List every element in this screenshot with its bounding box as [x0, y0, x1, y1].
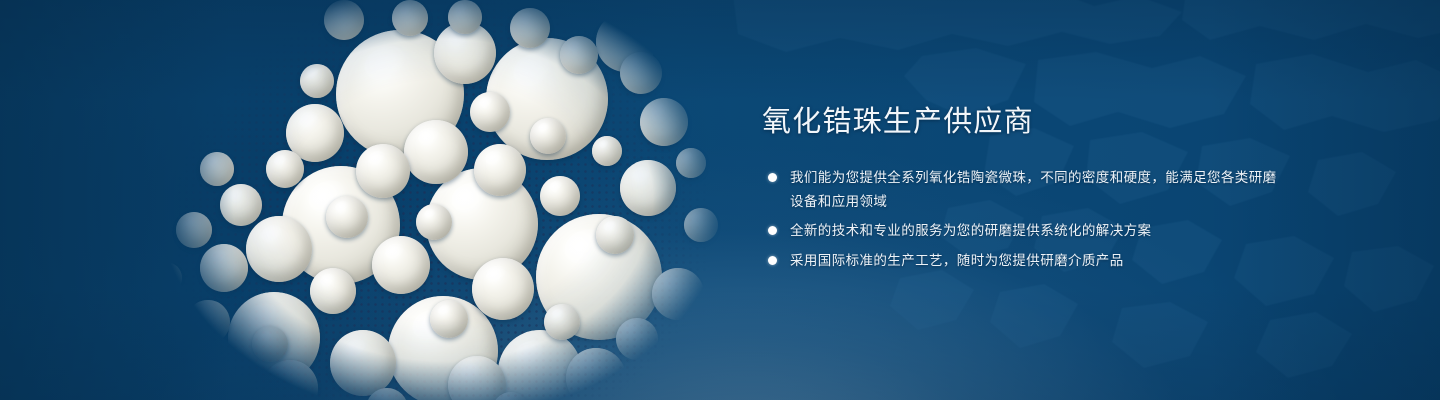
list-item-label: 我们能为您提供全系列氧化锆陶瓷微珠，不同的密度和硬度，能满足您各类研磨设备和应用… [790, 170, 1277, 209]
bead [668, 30, 704, 66]
zirconia-bead-cluster-image [0, 0, 820, 400]
bead [592, 136, 622, 166]
bead [372, 236, 430, 294]
bead [510, 8, 550, 48]
list-item-label: 采用国际标准的生产工艺，随时为您提供研磨介质产品 [790, 253, 1124, 268]
bead [530, 118, 566, 154]
bead [246, 216, 312, 282]
bead [392, 0, 428, 36]
feature-list: 我们能为您提供全系列氧化锆陶瓷微珠，不同的密度和硬度，能满足您各类研磨设备和应用… [762, 166, 1282, 272]
bead [560, 36, 598, 74]
bead [176, 212, 212, 248]
bead [616, 318, 658, 360]
bead [300, 64, 334, 98]
bead [448, 356, 506, 400]
bullet-dot-icon [768, 226, 777, 235]
bead [544, 304, 580, 340]
list-item: 采用国际标准的生产工艺，随时为您提供研磨介质产品 [762, 249, 1282, 273]
bead [356, 144, 410, 198]
bead [200, 152, 234, 186]
bead [652, 268, 704, 320]
bead [330, 330, 396, 396]
bead [596, 216, 634, 254]
bead [200, 244, 248, 292]
banner-copy: 氧化锆珠生产供应商 我们能为您提供全系列氧化锆陶瓷微珠，不同的密度和硬度，能满足… [762, 104, 1282, 272]
list-item-label: 全新的技术和专业的服务为您的研磨提供系统化的解决方案 [790, 223, 1151, 238]
bead [474, 144, 526, 196]
bead [472, 258, 534, 320]
bead [416, 204, 452, 240]
page-title: 氧化锆珠生产供应商 [762, 104, 1282, 140]
bead [540, 176, 580, 216]
bead [640, 98, 688, 146]
bead [404, 120, 468, 184]
bead [252, 326, 288, 362]
bead [220, 184, 262, 226]
bead [310, 268, 356, 314]
bead [266, 150, 304, 188]
bead [150, 262, 182, 294]
bead [676, 148, 706, 178]
bead [448, 0, 482, 34]
bead [430, 300, 468, 338]
list-item: 全新的技术和专业的服务为您的研磨提供系统化的解决方案 [762, 219, 1282, 243]
bead [186, 300, 230, 344]
bead [620, 52, 662, 94]
bead [196, 352, 240, 396]
bead [470, 92, 510, 132]
bead [684, 208, 718, 242]
bead [566, 348, 626, 400]
list-item: 我们能为您提供全系列氧化锆陶瓷微珠，不同的密度和硬度，能满足您各类研磨设备和应用… [762, 166, 1282, 213]
bead [620, 160, 676, 216]
hero-banner: 氧化锆珠生产供应商 我们能为您提供全系列氧化锆陶瓷微珠，不同的密度和硬度，能满足… [0, 0, 1440, 400]
bead [326, 196, 368, 238]
bead [324, 0, 364, 40]
bullet-dot-icon [768, 173, 777, 182]
bullet-dot-icon [768, 256, 777, 265]
